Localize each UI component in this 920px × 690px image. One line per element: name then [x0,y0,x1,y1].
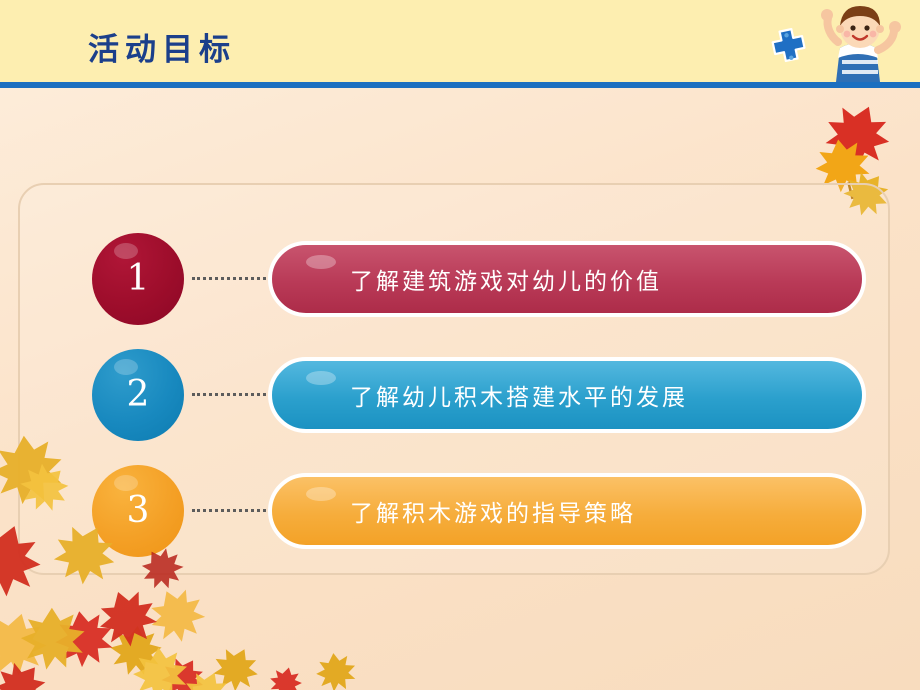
connector-dots-1 [192,277,266,284]
objective-number-2: 2 [127,374,150,415]
objective-row-1: 1 了解建筑游戏对幼儿的价值 [20,233,892,325]
circle-gloss-1 [114,243,138,259]
bar-gloss-2 [306,371,336,385]
slide-header: 活动目标 [0,0,920,82]
objective-bar-1[interactable]: 了解建筑游戏对幼儿的价值 [268,241,866,317]
connector-dots-2 [192,393,266,400]
puzzle-cross-icon [770,28,808,66]
circle-gloss-2 [114,359,138,375]
bar-gloss-1 [306,255,336,269]
maple-leaves-bottom-left [0,400,420,690]
header-rule [0,82,920,88]
objective-number-1: 1 [127,258,150,299]
objective-number-3: 3 [127,490,150,531]
objective-text-1: 了解建筑游戏对幼儿的价值 [350,262,662,296]
page-title: 活动目标 [88,24,236,69]
boy-mascot-icon [812,2,904,86]
objective-number-circle-1: 1 [92,233,184,325]
slide: 活动目标 [0,0,920,690]
objectives-panel: 1 了解建筑游戏对幼儿的价值 2 了解幼儿积木搭建水平的发展 [18,183,890,575]
